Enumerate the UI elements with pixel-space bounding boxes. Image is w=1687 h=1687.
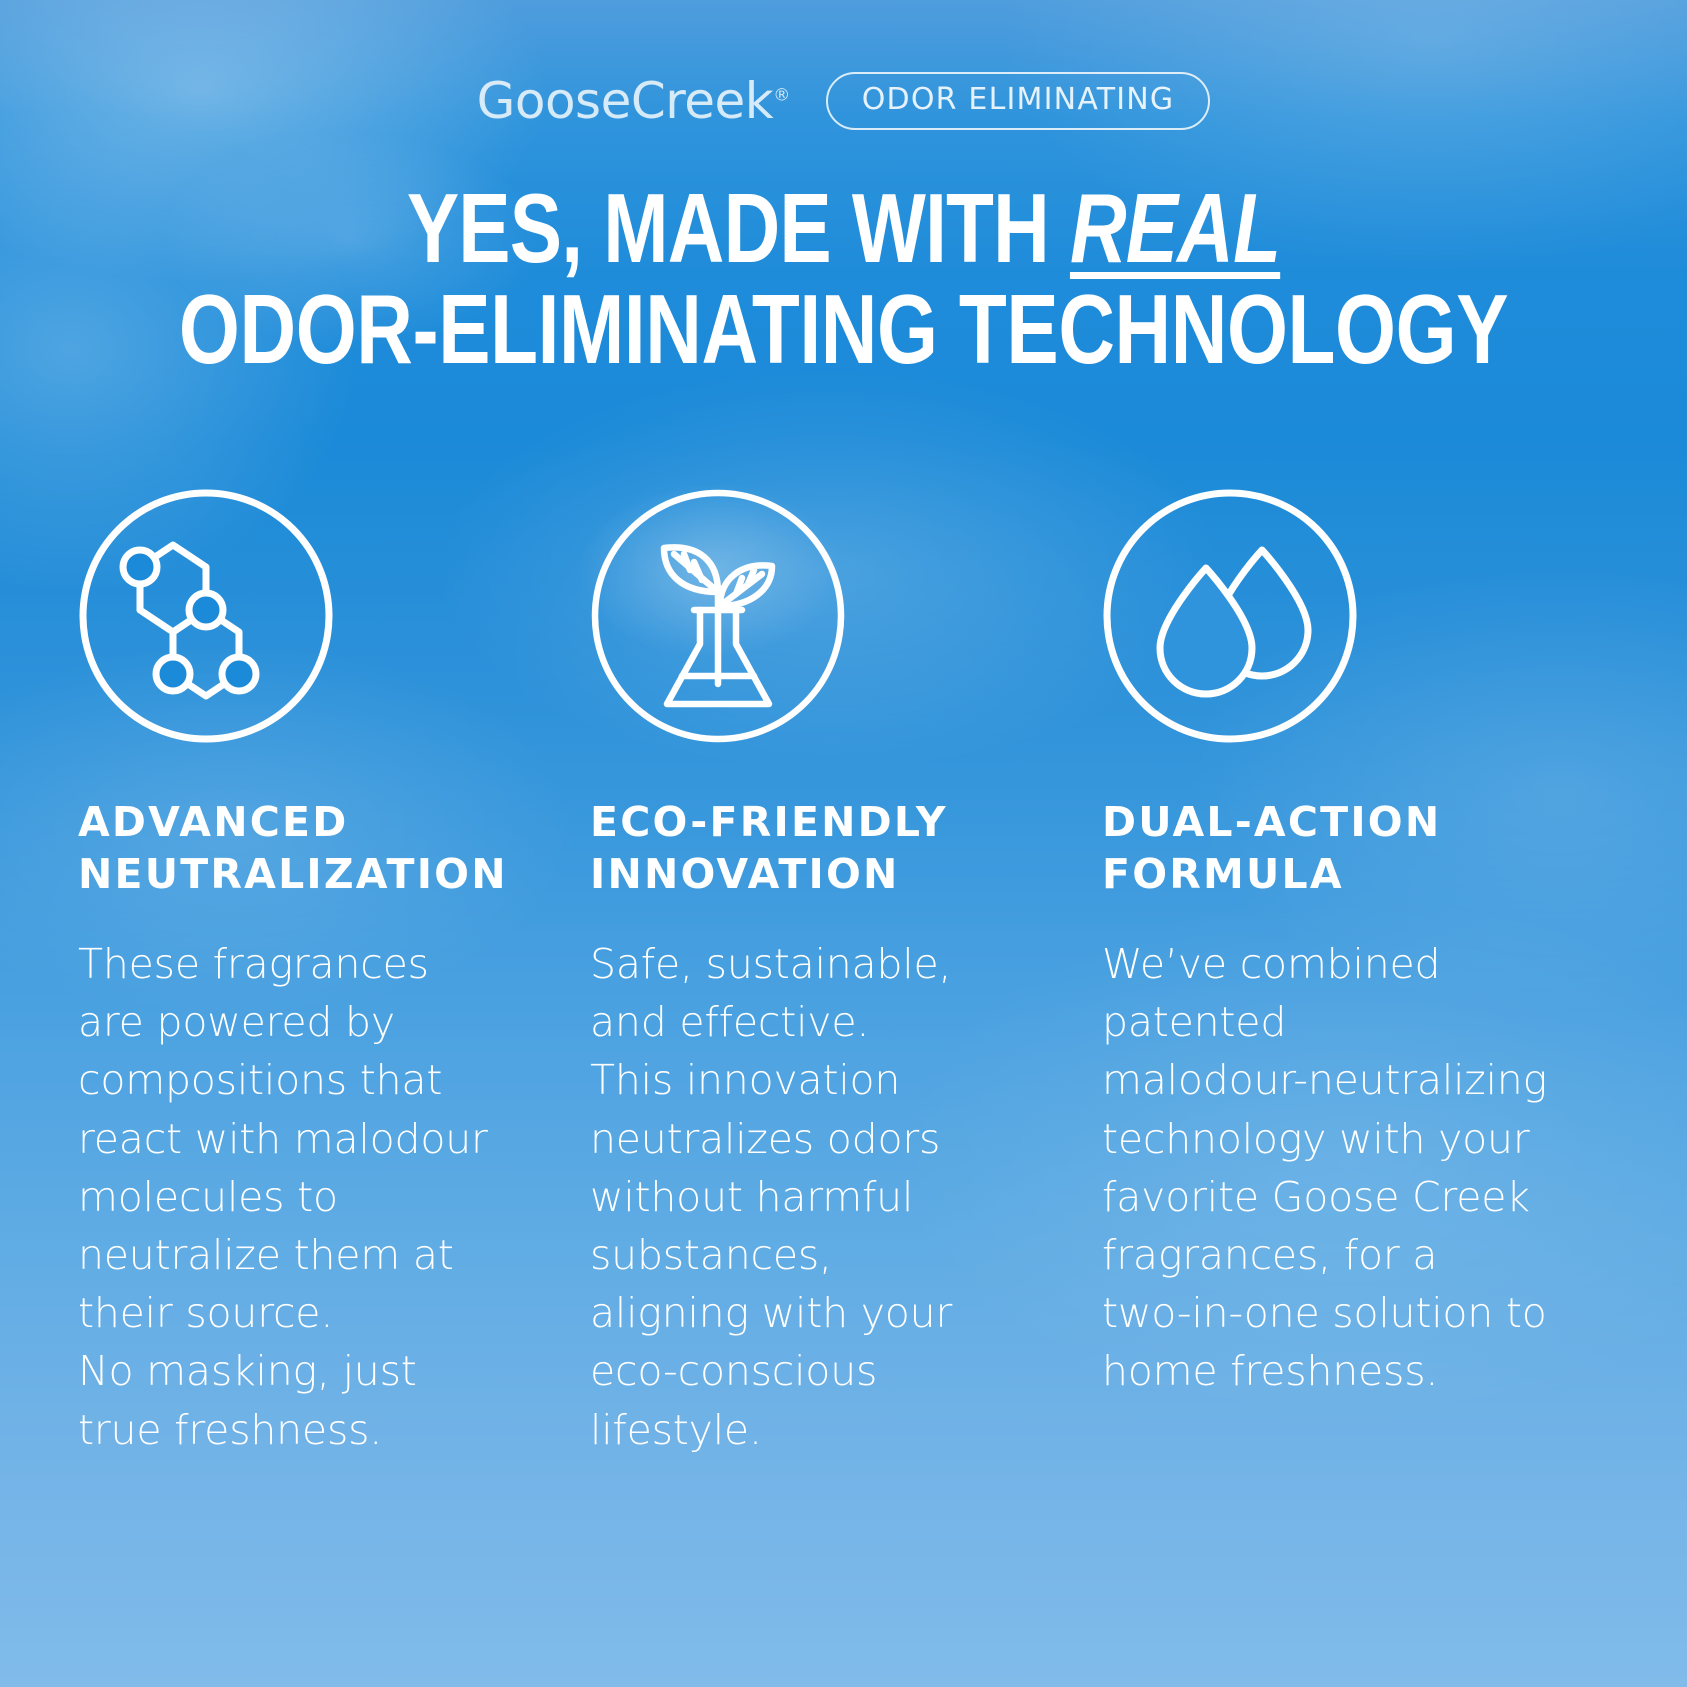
water-droplets-icon — [1102, 488, 1358, 744]
feature-title: ECO-FRIENDLY INNOVATION — [590, 796, 1050, 901]
headline-line-2: ODOR-ELIMINATING TECHNOLOGY — [169, 283, 1519, 376]
feature-column: ADVANCED NEUTRALIZATION These fragrances… — [78, 488, 538, 1459]
feature-columns: ADVANCED NEUTRALIZATION These fragrances… — [78, 488, 1618, 1459]
odor-eliminating-badge: ODOR ELIMINATING — [826, 72, 1211, 130]
feature-body: These fragrances are powered by composit… — [78, 935, 538, 1459]
feature-title: ADVANCED NEUTRALIZATION — [78, 796, 538, 901]
feature-title: DUAL-ACTION FORMULA — [1102, 796, 1562, 901]
brand-logo: GooseCreek® — [477, 72, 790, 130]
brand-logo-text: GooseCreek — [477, 72, 774, 130]
plant-flask-icon — [590, 488, 846, 744]
headline: YES, MADE WITH REAL ODOR-ELIMINATING TEC… — [0, 182, 1687, 376]
registered-trademark-icon: ® — [773, 85, 790, 105]
feature-column: ECO-FRIENDLY INNOVATION Safe, sustainabl… — [590, 488, 1050, 1459]
headline-line-1: YES, MADE WITH REAL — [169, 182, 1519, 275]
feature-body: We’ve combined patented malodour-neutral… — [1102, 935, 1562, 1401]
headline-emphasis-real: REAL — [1070, 173, 1280, 283]
feature-column: DUAL-ACTION FORMULA We’ve combined paten… — [1102, 488, 1562, 1459]
molecule-icon — [78, 488, 334, 744]
header: GooseCreek® ODOR ELIMINATING — [0, 72, 1687, 130]
promo-graphic: GooseCreek® ODOR ELIMINATING YES, MADE W… — [0, 0, 1687, 1687]
feature-body: Safe, sustainable, and effective. This i… — [590, 935, 1050, 1459]
headline-line-1-prefix: YES, MADE WITH — [407, 173, 1070, 283]
